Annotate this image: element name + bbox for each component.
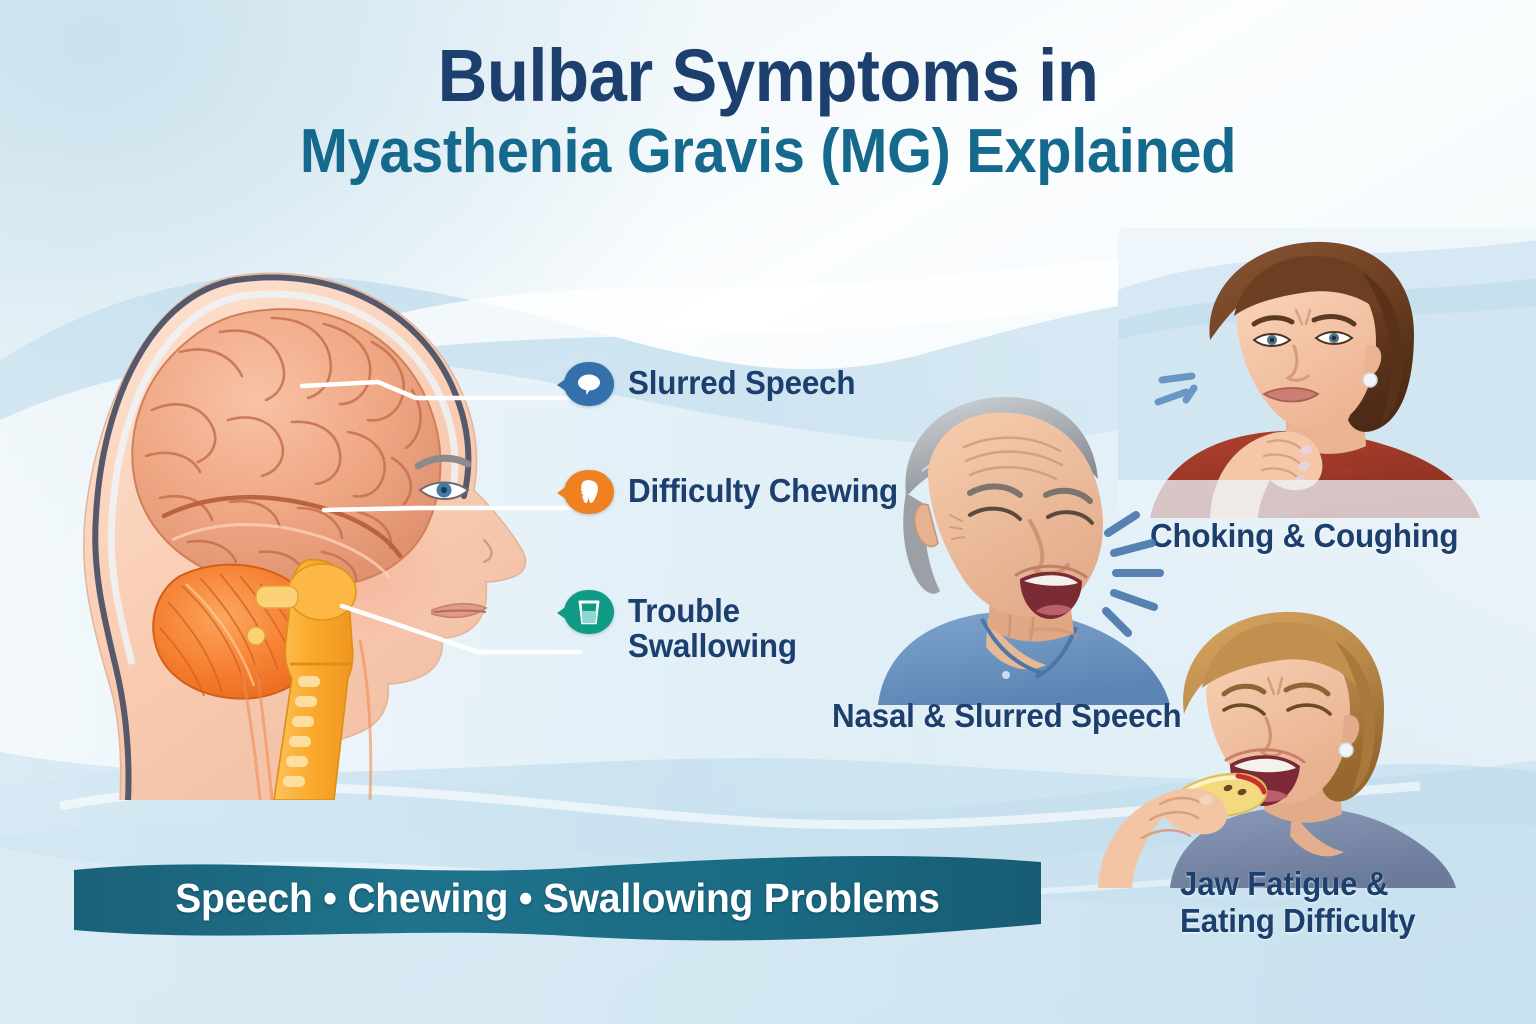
banner-text: Speech • Chewing • Swallowing Problems (94, 848, 1020, 948)
leader-line-chewing (324, 508, 580, 510)
title-line-2: Myasthenia Gravis (MG) Explained (54, 119, 1482, 184)
tooth-chewing-icon (564, 470, 614, 514)
callout-slurred-speech[interactable]: Slurred Speech (564, 362, 867, 406)
infographic-canvas: Bulbar Symptoms in Myasthenia Gravis (MG… (0, 0, 1536, 1024)
cerebrum (132, 309, 440, 589)
bottom-banner: Speech • Chewing • Swallowing Problems (70, 848, 1045, 948)
head-anatomy-illustration (60, 240, 620, 800)
page-title: Bulbar Symptoms in Myasthenia Gravis (MG… (0, 38, 1536, 185)
title-line-1: Bulbar Symptoms in (54, 38, 1482, 113)
callout-label: Trouble Swallowing (628, 590, 797, 664)
callout-label: Slurred Speech (628, 362, 855, 400)
figure-caption-jaw-fatigue: Jaw Fatigue & Eating Difficulty (1180, 866, 1522, 940)
water-glass-icon (564, 590, 614, 634)
callout-difficulty-chewing[interactable]: Difficulty Chewing (564, 470, 912, 514)
figure-eating-woman (1078, 588, 1478, 888)
speech-bubble-icon (564, 362, 614, 406)
callout-trouble-swallowing[interactable]: Trouble Swallowing (564, 590, 806, 664)
callout-label: Difficulty Chewing (628, 470, 898, 508)
